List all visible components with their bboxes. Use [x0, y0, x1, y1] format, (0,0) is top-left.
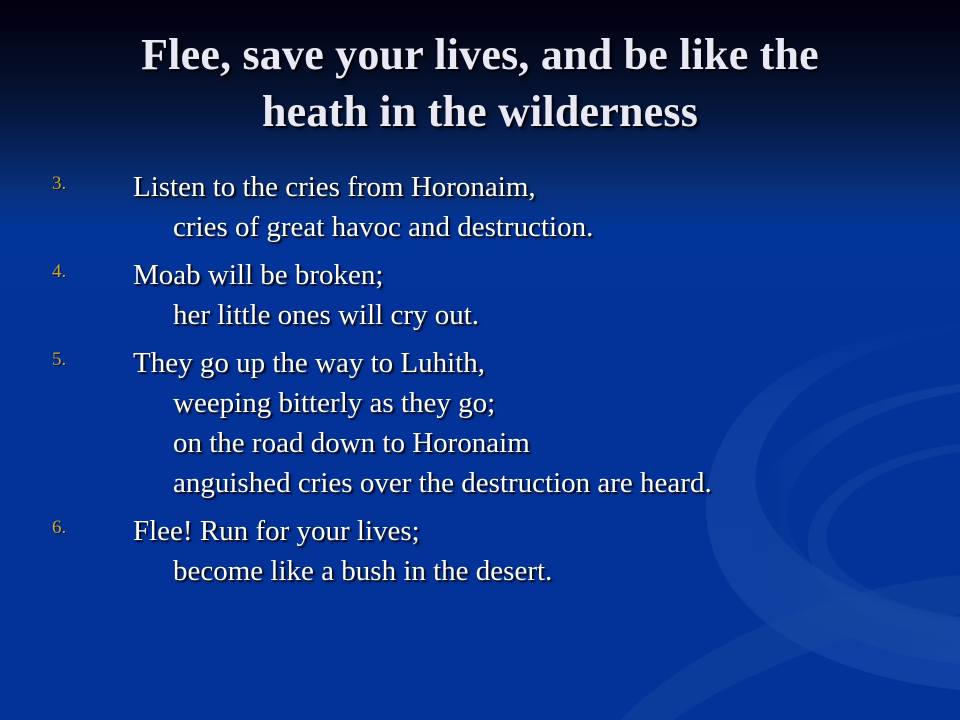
list-item-text-line: anguished cries over the destruction are…: [0, 463, 960, 503]
title-line-1: Flee, save your lives, and be like the: [40, 26, 920, 83]
list-item: 4. Moab will be broken; her little ones …: [0, 255, 960, 335]
list-item-number: 5.: [52, 349, 88, 371]
list-item-lines: They go up the way to Luhith, weeping bi…: [0, 343, 960, 503]
list-item: 3. Listen to the cries from Horonaim, cr…: [0, 167, 960, 247]
list-item: 5. They go up the way to Luhith, weeping…: [0, 343, 960, 503]
list-item-lines: Moab will be broken; her little ones wil…: [0, 255, 960, 335]
list-item-number: 3.: [52, 173, 88, 195]
list-item-text-line: weeping bitterly as they go;: [0, 383, 960, 423]
slide-body-list: 3. Listen to the cries from Horonaim, cr…: [0, 167, 960, 599]
list-item-text-line: Moab will be broken;: [0, 255, 960, 295]
list-item-number: 4.: [52, 261, 88, 283]
list-item-text-line: cries of great havoc and destruction.: [0, 207, 960, 247]
title-line-2: heath in the wilderness: [40, 83, 920, 140]
list-item-text-line: Flee! Run for your lives;: [0, 511, 960, 551]
presentation-slide: Flee, save your lives, and be like the h…: [0, 0, 960, 720]
list-item-text-line: Listen to the cries from Horonaim,: [0, 167, 960, 207]
list-item: 6. Flee! Run for your lives; become like…: [0, 511, 960, 591]
list-item-text-line: on the road down to Horonaim: [0, 423, 960, 463]
list-item-lines: Flee! Run for your lives; become like a …: [0, 511, 960, 591]
list-item-lines: Listen to the cries from Horonaim, cries…: [0, 167, 960, 247]
list-item-text-line: her little ones will cry out.: [0, 295, 960, 335]
list-item-text-line: become like a bush in the desert.: [0, 551, 960, 591]
slide-title: Flee, save your lives, and be like the h…: [40, 26, 920, 140]
list-item-text-line: They go up the way to Luhith,: [0, 343, 960, 383]
list-item-number: 6.: [52, 517, 88, 539]
